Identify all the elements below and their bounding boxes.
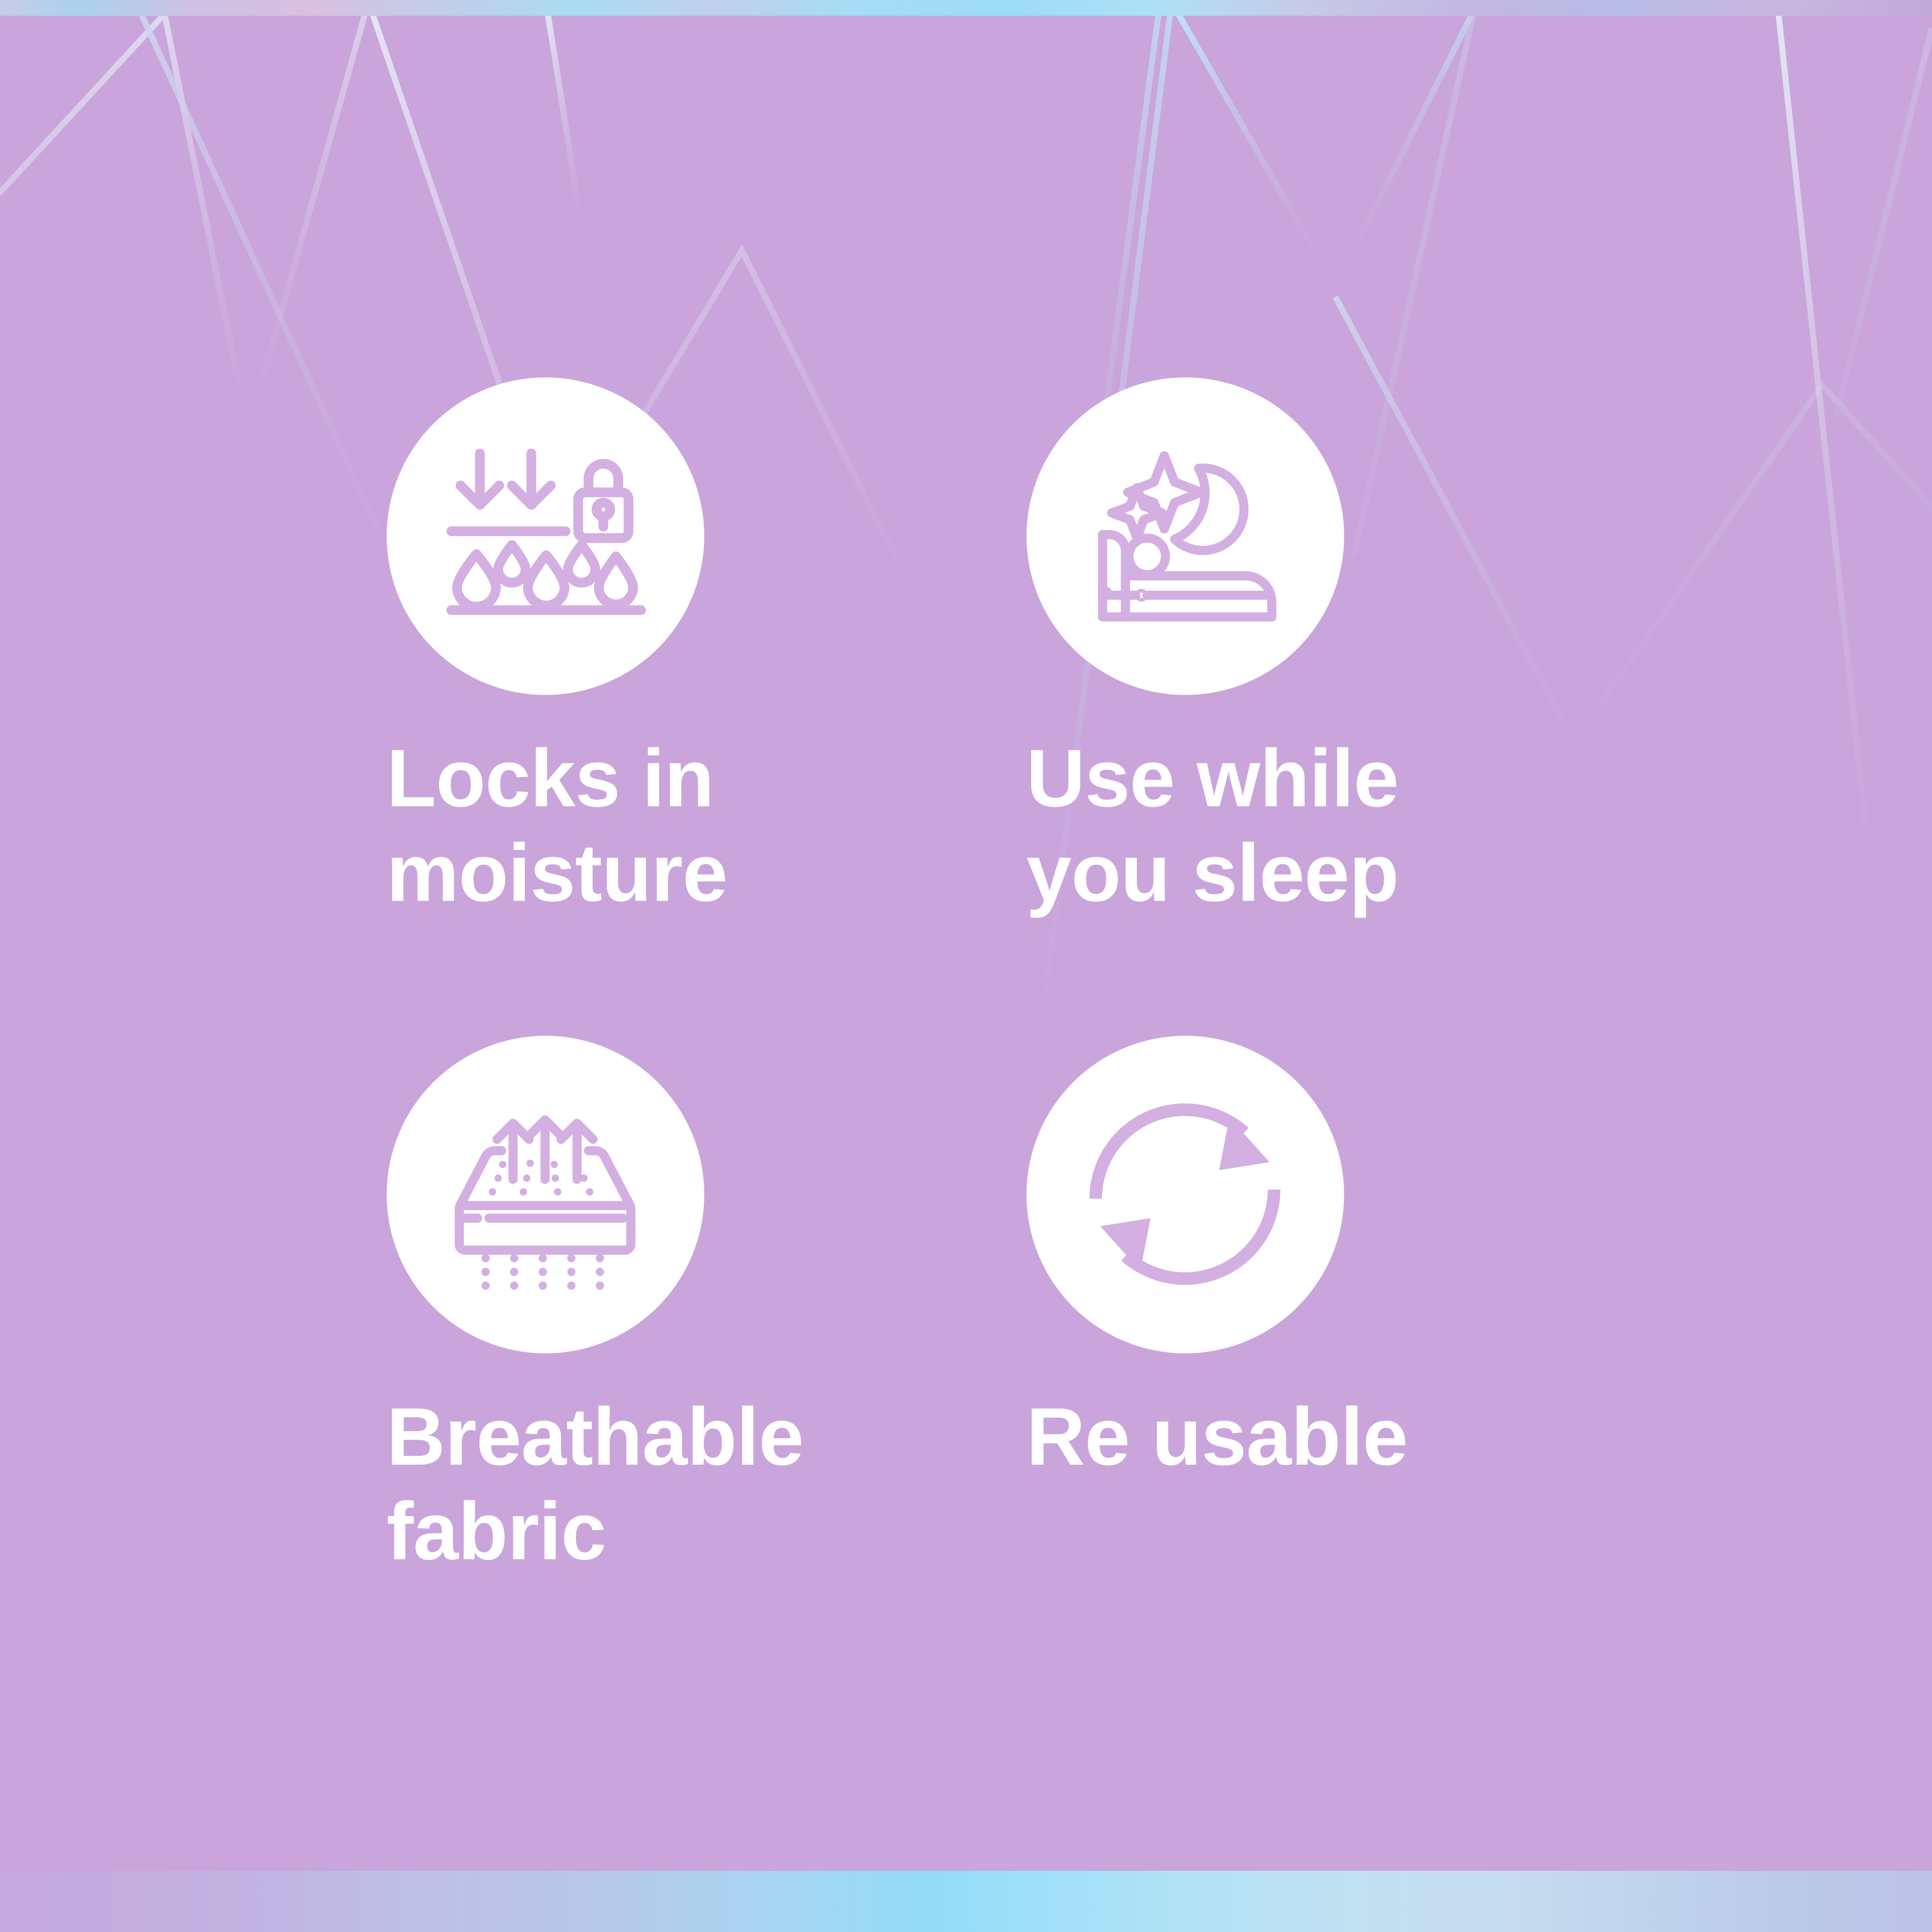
- icon-badge: [387, 1036, 704, 1353]
- feature-label: Re usable: [1027, 1390, 1408, 1484]
- feature-label: Breathable fabric: [387, 1390, 804, 1579]
- feature-item-use-while-you-sleep: Use while you sleep: [966, 377, 1606, 1036]
- icon-badge: [1027, 1036, 1344, 1353]
- reusable-cycle-icon: [1071, 1080, 1299, 1308]
- icon-badge: [387, 377, 704, 695]
- feature-grid: Locks in moisture: [0, 0, 1932, 1932]
- feature-label: Use while you sleep: [1027, 731, 1399, 920]
- locks-in-moisture-icon: [431, 421, 659, 650]
- sleep-bed-moon-icon: [1071, 421, 1299, 650]
- feature-item-re-usable: Re usable: [966, 1036, 1606, 1694]
- product-feature-panel: Locks in moisture: [0, 0, 1932, 1932]
- feature-label: Locks in moisture: [387, 731, 727, 920]
- feature-item-locks-in-moisture: Locks in moisture: [326, 377, 966, 1036]
- feature-item-breathable-fabric: Breathable fabric: [326, 1036, 966, 1694]
- icon-badge: [1027, 377, 1344, 695]
- breathable-fabric-icon: [431, 1080, 659, 1308]
